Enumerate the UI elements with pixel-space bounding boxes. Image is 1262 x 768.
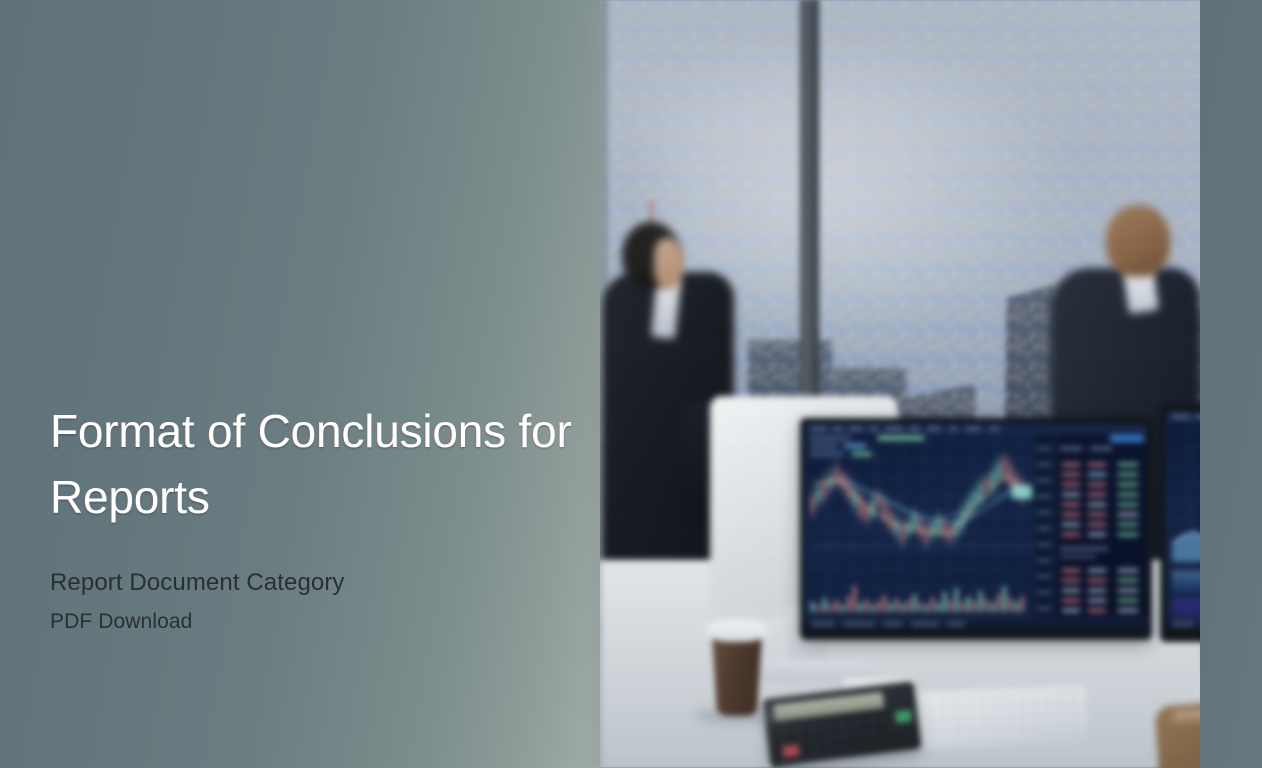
coffee-cup: [708, 620, 766, 715]
calculator-red-key: [782, 744, 799, 757]
order-book-header-badge: [1110, 435, 1144, 442]
area-chart-series: [1172, 452, 1202, 562]
price-axis: [1033, 433, 1055, 618]
document-category: Report Document Category: [50, 568, 590, 598]
slide-root: Format of Conclusions for Reports Report…: [0, 0, 1262, 768]
volume-bars: [809, 564, 1029, 612]
calculator-green-key: [895, 710, 912, 724]
businessman-right-head: [1106, 205, 1170, 277]
terminal-toolbar: [805, 424, 1147, 433]
secondary-band-upper: [1172, 570, 1202, 592]
businessman-left-face: [654, 238, 684, 290]
secondary-statusbar: [1166, 618, 1202, 628]
trading-screen: [805, 424, 1147, 628]
secondary-toolbar: [1166, 412, 1202, 421]
coffee-cup-lid: [705, 620, 769, 642]
coffee-cup-body: [711, 636, 763, 716]
left-overlay-panel: [0, 0, 600, 768]
candlestick-series: [809, 450, 1029, 562]
secondary-screen: [1166, 412, 1202, 628]
page-title: Format of Conclusions for Reports: [50, 398, 590, 530]
order-book-pane: [1055, 433, 1147, 618]
right-overlay-panel: [1200, 0, 1262, 768]
trading-monitor: [800, 418, 1152, 640]
download-label: PDF Download: [50, 608, 590, 635]
secondary-monitor: [1160, 404, 1202, 642]
terminal-statusbar: [805, 618, 1147, 628]
background-photo: [598, 0, 1202, 768]
title-block: Format of Conclusions for Reports Report…: [50, 398, 590, 635]
